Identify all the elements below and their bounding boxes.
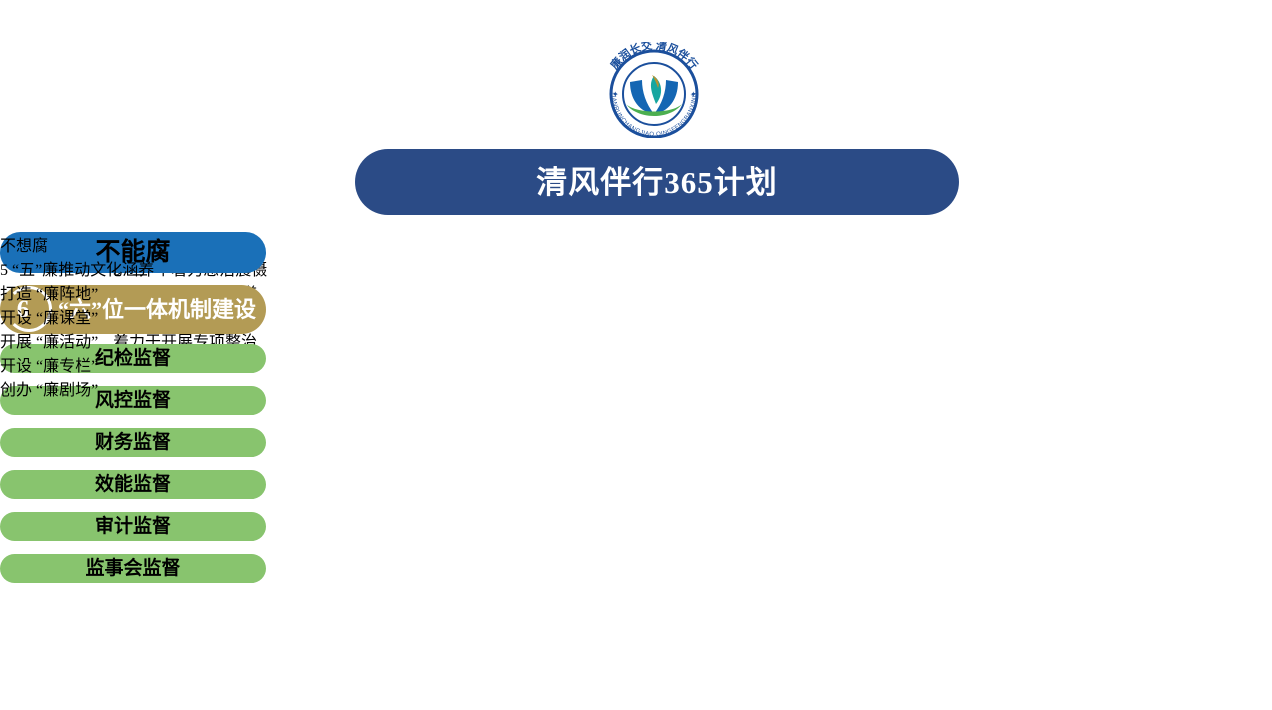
pillar-header-label-2: 不想腐 [0,238,48,255]
item-strong: 开设 “廉专栏” [0,358,98,375]
item-strong: 财务监督 [95,432,171,453]
svg-text:✦: ✦ [690,90,697,99]
list-item[interactable]: 效能监督 [0,470,266,499]
list-item[interactable]: 财务监督 [0,428,266,457]
pillar-header-2[interactable]: 不想腐 [0,232,154,256]
item-strong: 审计监督 [95,516,171,537]
list-item[interactable]: 开设 “廉课堂” [0,304,154,328]
list-item[interactable]: 创办 “廉剧场” [0,376,154,400]
pillar-subtitle-bar-2[interactable]: 5 “五”廉推动文化涵养 [0,256,154,280]
pillar-item-list-2: 打造 “廉阵地” 开设 “廉课堂” 开展 “廉活动” 开设 “廉专栏” 创办 “… [0,280,154,400]
item-strong: 开设 “廉课堂” [0,310,98,327]
plan-title-banner: 清风伴行365计划 [355,149,959,215]
list-item[interactable]: 审计监督 [0,512,266,541]
list-item[interactable]: 打造 “廉阵地” [0,280,154,304]
logo-emblem-icon: 廉润长交 清风伴行 LIANRUNCHANGJIAO QINGFENGBANXI… [596,42,712,138]
svg-text:✦: ✦ [612,90,619,99]
list-item[interactable]: 开展 “廉活动” [0,328,154,352]
item-strong: 创办 “廉剧场” [0,382,98,399]
badge-number-2: 5 [0,262,8,279]
list-item[interactable]: 开设 “廉专栏” [0,352,154,376]
page-title: 清风伴行365计划 [536,167,778,198]
item-strong: 监事会监督 [86,558,181,579]
pillar-badge-2: 5 [0,262,12,279]
list-item[interactable]: 监事会监督 [0,554,266,583]
item-strong: 效能监督 [95,474,171,495]
pillar-subtitle-2: “五”廉推动文化涵养 [12,262,154,279]
item-strong: 开展 “廉活动” [0,334,98,351]
item-strong: 打造 “廉阵地” [0,286,98,303]
organization-logo: 廉润长交 清风伴行 LIANRUNCHANGJIAO QINGFENGBANXI… [596,42,712,138]
pillar-column-buxiangfu: 不想腐 5 “五”廉推动文化涵养 打造 “廉阵地” 开设 “廉课堂” 开展 “廉… [0,232,154,400]
